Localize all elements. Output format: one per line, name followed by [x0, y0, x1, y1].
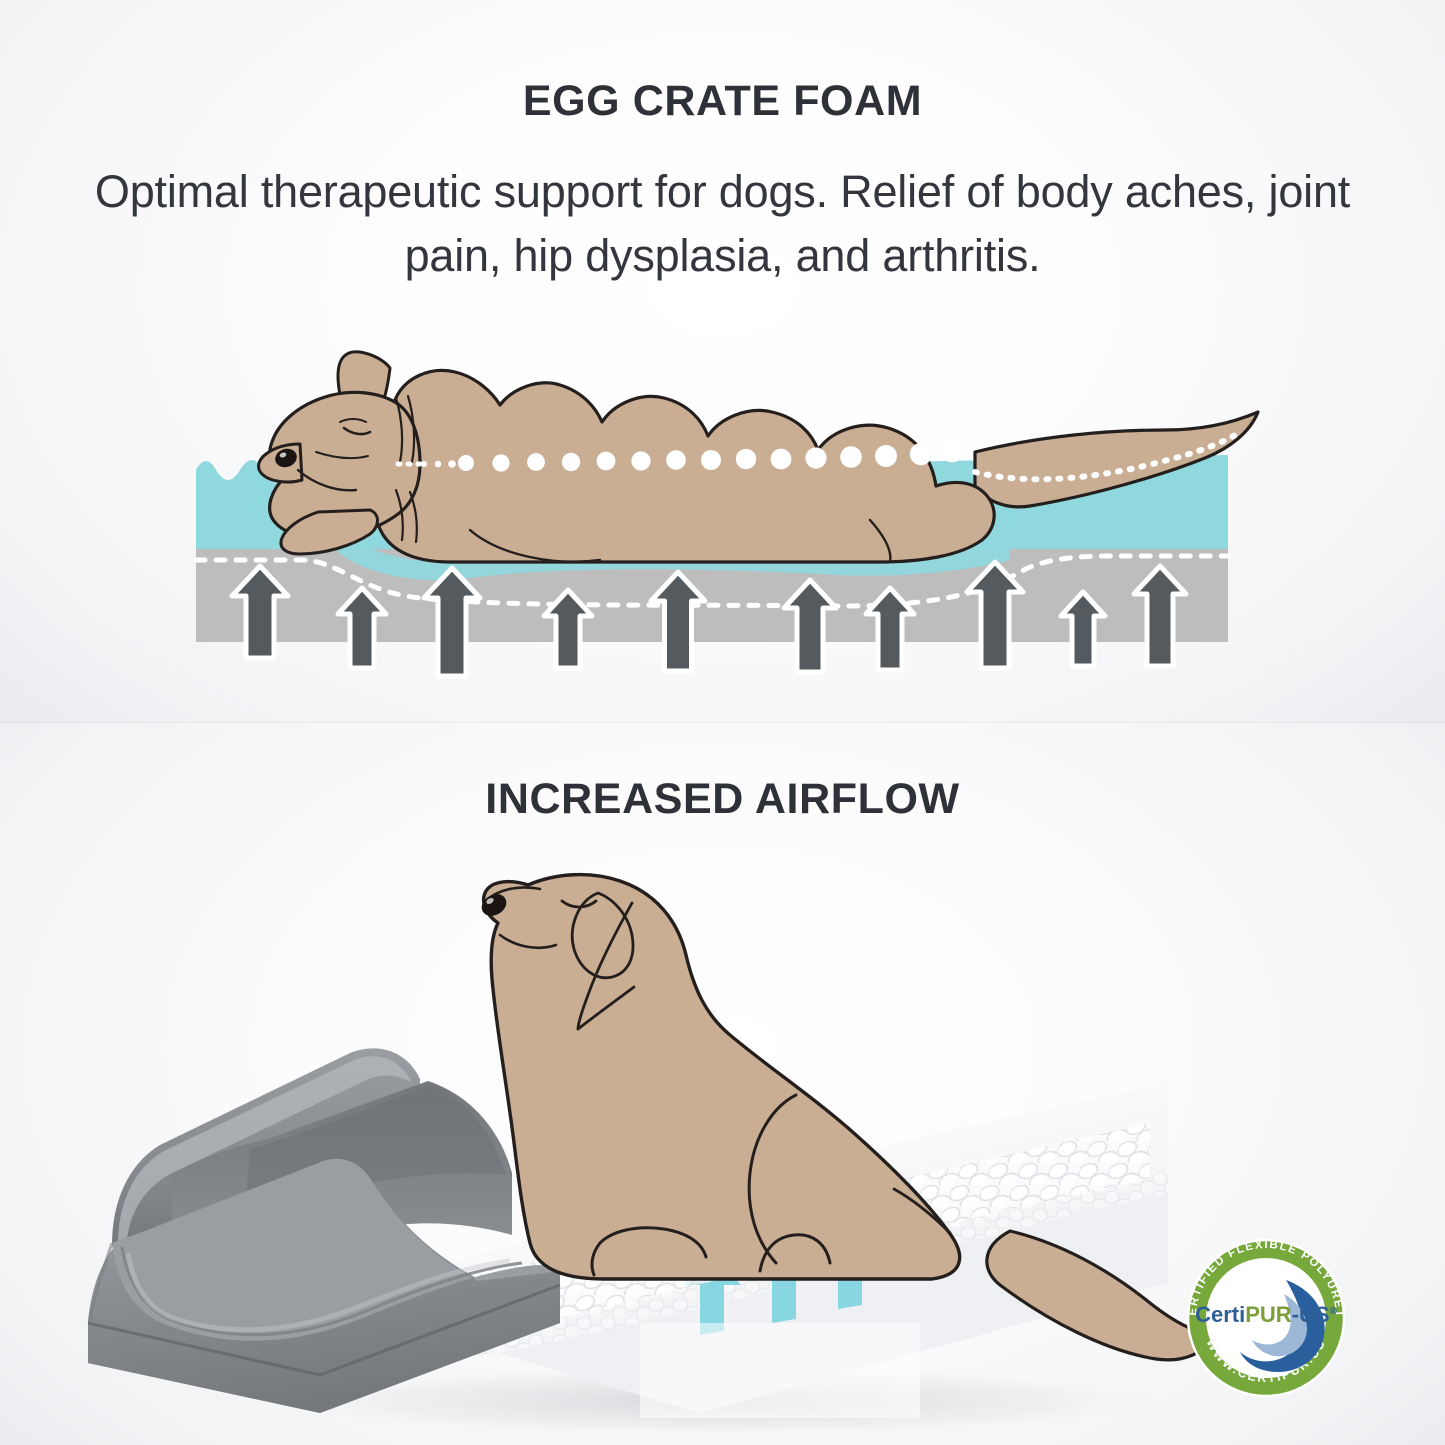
panel-increased-airflow: INCREASED AIRFLOW — [0, 723, 1445, 1445]
illustration-dog-on-bolster-bed: CONTAINS CERTIFIED FLEXIBLE POLYURETHANE… — [0, 723, 1445, 1445]
bolster-bed — [88, 1048, 560, 1413]
badge-wordmark: CertiPUR-US® — [1195, 1302, 1337, 1327]
panel-egg-crate-foam: EGG CRATE FOAM Optimal therapeutic suppo… — [0, 0, 1445, 723]
illustration-dog-on-foam-cross-section — [0, 0, 1445, 723]
panel-divider — [0, 722, 1445, 723]
product-feature-infographic: EGG CRATE FOAM Optimal therapeutic suppo… — [0, 0, 1445, 1445]
certipur-us-seal: CONTAINS CERTIFIED FLEXIBLE POLYURETHANE… — [1180, 1229, 1345, 1396]
svg-text:CertiPUR-US®: CertiPUR-US® — [1195, 1302, 1337, 1327]
